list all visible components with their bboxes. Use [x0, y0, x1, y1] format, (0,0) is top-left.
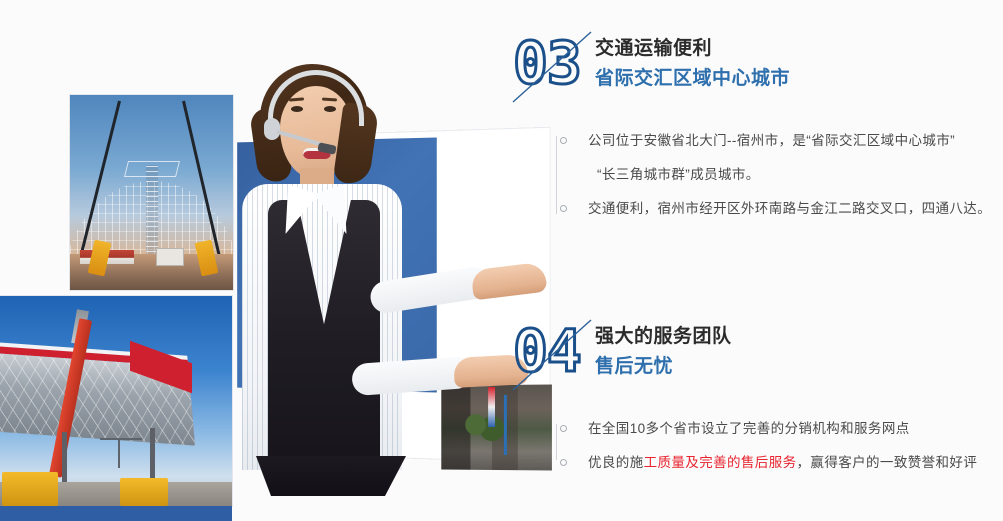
bullet-text: 交通便利，宿州市经开区外环南路与金江二路交叉口，四通八达。 — [588, 201, 991, 216]
canopy-column-a-decor — [62, 432, 67, 488]
feature-sections: 03 交通运输便利 省际交汇区域中心城市 公司位于安徽省北大门--宿州市，是“省… — [505, 0, 1003, 521]
bullet-circle-icon — [560, 137, 567, 144]
skirt-decor — [256, 456, 406, 496]
promo-banner-page: 03 交通运输便利 省际交汇区域中心城市 公司位于安徽省北大门--宿州市，是“省… — [0, 0, 1003, 521]
canopy-truck-b-decor — [120, 478, 168, 506]
section-04-titles: 强大的服务团队 售后无忧 — [595, 322, 732, 382]
bullet-text: 在全国10多个省市设立了完善的分销机构和服务网点 — [588, 421, 910, 436]
section-03-title-main: 交通运输便利 — [595, 34, 790, 64]
list-item: 交通便利，宿州市经开区外环南路与金江二路交叉口，四通八达。 — [513, 192, 1003, 226]
canopy-column-b-decor — [150, 428, 155, 484]
section-03-number: 03 — [513, 32, 581, 94]
section-04-number: 04 — [513, 320, 581, 382]
bullet-circle-icon — [560, 425, 567, 432]
section-04-bullets: 在全国10多个省市设立了完善的分销机构和服务网点 优良的施工质量及完善的售后服务… — [505, 412, 1003, 480]
bullet-text: 公司位于安徽省北大门--宿州市，是“省际交汇区域中心城市” — [588, 133, 955, 148]
section-03-titles: 交通运输便利 省际交汇区域中心城市 — [595, 34, 790, 94]
section-04-title-main: 强大的服务团队 — [595, 322, 732, 352]
bullet-text-post: ，赢得客户的一致赞誉和好评 — [797, 455, 978, 470]
section-03-bullets: 公司位于安徽省北大门--宿州市，是“省际交汇区域中心城市” “长三角城市群”成员… — [505, 124, 1003, 226]
canopy-truck-a-decor — [2, 472, 58, 506]
section-03-header: 03 交通运输便利 省际交汇区域中心城市 — [505, 32, 1003, 102]
dome-container-decor — [156, 248, 184, 266]
red-roof-canopy-photo — [0, 296, 232, 506]
section-04-title-sub: 售后无忧 — [595, 352, 732, 382]
customer-service-woman-photo — [220, 60, 550, 510]
bullet-text-highlight: 工质量及完善的售后服务 — [644, 455, 797, 470]
section-03-title-sub: 省际交汇区域中心城市 — [595, 64, 790, 94]
feature-section-04: 04 强大的服务团队 售后无忧 在全国10多个省市设立了完善的分销机构和服务网点 — [505, 320, 1003, 480]
list-item: 公司位于安徽省北大门--宿州市，是“省际交汇区域中心城市” — [513, 124, 1003, 158]
navy-bottom-strip — [0, 506, 232, 521]
list-item: 优良的施工质量及完善的售后服务，赢得客户的一致赞誉和好评 — [513, 446, 1003, 480]
feature-section-03: 03 交通运输便利 省际交汇区域中心城市 公司位于安徽省北大门--宿州市，是“省… — [505, 32, 1003, 226]
bullet-text-pre: 优良的施 — [588, 455, 644, 470]
bullet-continuation: “长三角城市群”成员城市。 — [513, 158, 1003, 192]
section-04-header: 04 强大的服务团队 售后无忧 — [505, 320, 1003, 390]
bullet-circle-icon — [560, 459, 567, 466]
tower-crane-decor — [100, 438, 142, 440]
bullet-circle-icon — [560, 205, 567, 212]
list-item: 在全国10多个省市设立了完善的分销机构和服务网点 — [513, 412, 1003, 446]
